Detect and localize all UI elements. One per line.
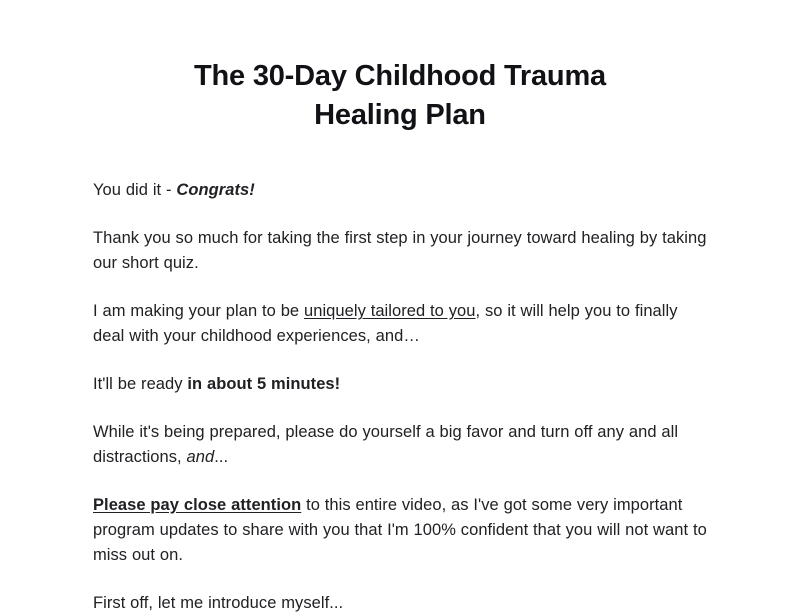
paragraph-pay-attention: Please pay close attention to this entir… [93,493,707,568]
page-title: The 30-Day Childhood Trauma Healing Plan [0,57,800,135]
tailored-plan-lead-text: I am making your plan to be [93,302,304,320]
paragraph-thank-you: Thank you so much for taking the first s… [93,226,707,276]
introduction-text: First off, let me introduce myself... [93,594,343,612]
paragraph-tailored-plan: I am making your plan to be uniquely tai… [93,299,707,349]
distractions-tail-text: ... [214,448,228,466]
distractions-emphasis-text: and [187,448,215,466]
page-title-line-1: The 30-Day Childhood Trauma [194,60,606,92]
paragraph-distractions: While it's being prepared, please do you… [93,420,707,470]
tailored-plan-underlined-text: uniquely tailored to you [304,302,476,320]
paragraph-ready-time: It'll be ready in about 5 minutes! [93,372,707,397]
document-page: The 30-Day Childhood Trauma Healing Plan… [0,0,800,600]
paragraph-congrats: You did it - Congrats! [93,178,707,203]
congrats-lead-text: You did it - [93,181,176,199]
ready-time-lead-text: It'll be ready [93,375,187,393]
congrats-emphasis-text: Congrats! [176,181,254,199]
page-title-line-2: Healing Plan [314,99,486,131]
ready-time-emphasis-text: in about 5 minutes! [187,375,340,393]
paragraph-introduction: First off, let me introduce myself... [93,591,707,616]
document-body: You did it - Congrats! Thank you so much… [93,178,707,616]
thank-you-text: Thank you so much for taking the first s… [93,229,706,272]
pay-attention-emphasis-text: Please pay close attention [93,496,301,514]
distractions-lead-text: While it's being prepared, please do you… [93,423,678,466]
